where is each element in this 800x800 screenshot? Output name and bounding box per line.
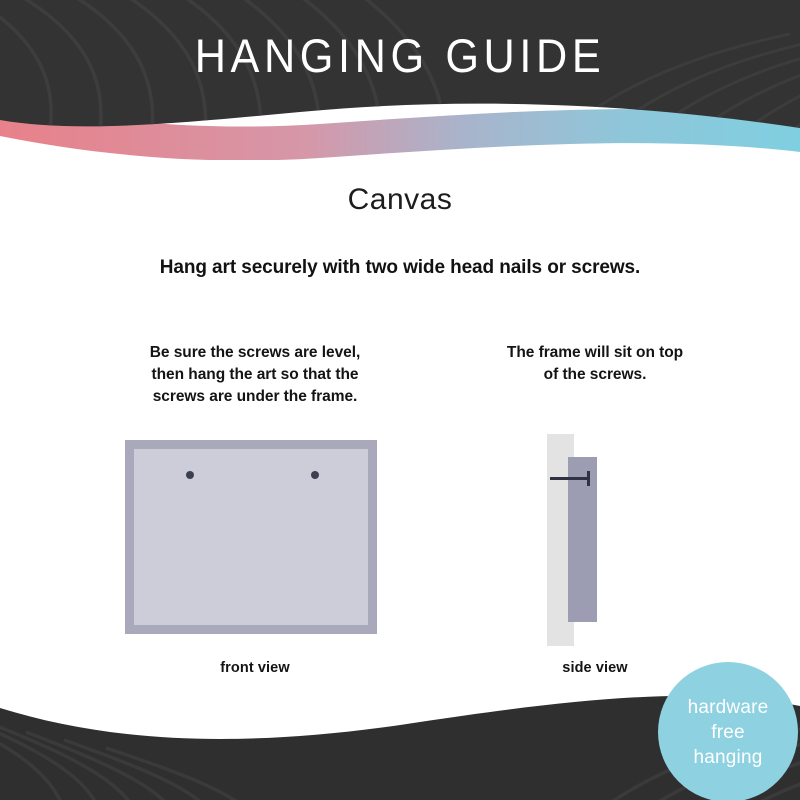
screw-dot-right-icon (311, 471, 319, 479)
side-view-caption: The frame will sit on top of the screws. (430, 342, 760, 386)
side-view-column: The frame will sit on top of the screws.… (430, 342, 760, 386)
front-caption-line-1: Be sure the screws are level, (95, 342, 415, 364)
front-view-label: front view (95, 660, 415, 676)
badge-line-3: hanging (693, 745, 762, 770)
front-view-frame-inner-panel (134, 449, 368, 625)
screw-dot-left-icon (186, 471, 194, 479)
front-view-frame-diagram (125, 440, 377, 634)
badge-line-2: free (711, 720, 745, 745)
side-view-frame-diagram (547, 434, 657, 646)
badge-line-1: hardware (688, 695, 769, 720)
side-caption-line-2: of the screws. (430, 364, 760, 386)
main-instruction: Hang art securely with two wide head nai… (0, 258, 800, 277)
front-view-column: Be sure the screws are level, then hang … (95, 342, 415, 408)
front-caption-line-3: screws are under the frame. (95, 386, 415, 408)
front-caption-line-2: then hang the art so that the (95, 364, 415, 386)
side-frame-strip (568, 457, 597, 622)
nail-head-icon (587, 471, 590, 486)
hanging-guide-page: HANGING GUIDE Canvas Hang art securely w… (0, 0, 800, 800)
front-view-caption: Be sure the screws are level, then hang … (95, 342, 415, 408)
product-heading: Canvas (0, 185, 800, 215)
page-title: HANGING GUIDE (32, 32, 768, 79)
nail-shaft-icon (550, 477, 590, 480)
side-caption-line-1: The frame will sit on top (430, 342, 760, 364)
hardware-free-hanging-badge: hardware free hanging (658, 662, 798, 800)
